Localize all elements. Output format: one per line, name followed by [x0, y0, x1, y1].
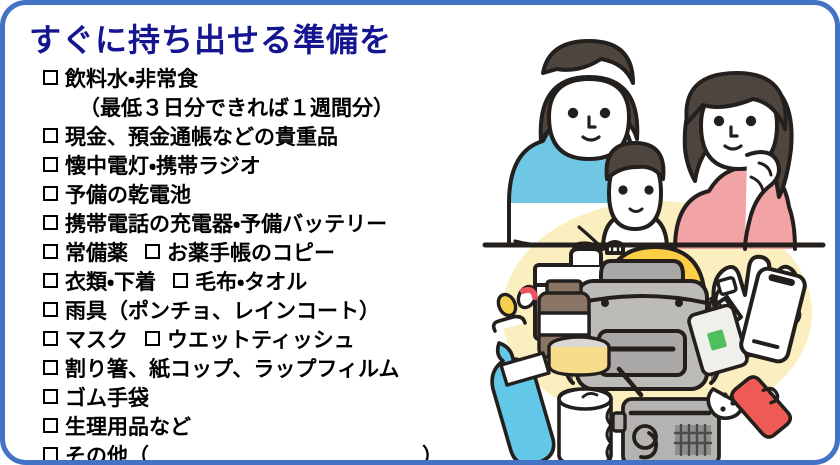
checklist-label-mask-second: ウエットティッシュ [167, 324, 355, 354]
checklist: 飲料水・非常食（最低３日分できれば１週間分）現金、預金通帳などの貴重品懐中電灯・… [43, 63, 463, 465]
checkbox-clothes-second[interactable] [173, 273, 188, 288]
person-child [603, 143, 667, 253]
person-mother [675, 73, 795, 249]
checklist-label-rubber-gloves: ゴム手袋 [65, 382, 149, 412]
checkbox-mask[interactable] [43, 331, 58, 346]
page-title: すぐに持ち出せる準備を [29, 15, 392, 61]
checkbox-cash-valuables[interactable] [43, 128, 58, 143]
checklist-row-rainwear[interactable]: 雨具（ポンチョ、レインコート） [43, 295, 463, 324]
canned-food [549, 337, 609, 375]
checkbox-rubber-gloves[interactable] [43, 389, 58, 404]
checklist-row-mask[interactable]: マスクウエットティッシュ [43, 324, 463, 353]
checklist-label-clothes-second: 毛布・タオル [195, 266, 307, 296]
checkbox-utensils[interactable] [43, 360, 58, 375]
checklist-label-other: その他（ [65, 440, 149, 465]
checklist-label-other-tail: ） [422, 440, 443, 465]
checklist-label-spare-batteries: 予備の乾電池 [65, 179, 191, 209]
checklist-label-medicine-second: お薬手帳のコピー [167, 237, 335, 267]
checkbox-clothes[interactable] [43, 273, 58, 288]
checkbox-medicine-second[interactable] [145, 244, 160, 259]
checklist-row-spare-batteries[interactable]: 予備の乾電池 [43, 179, 463, 208]
checklist-label-cash-valuables: 現金、預金通帳などの貴重品 [65, 121, 338, 151]
checklist-row-water-food[interactable]: 飲料水・非常食 [43, 63, 463, 92]
checkbox-rainwear[interactable] [43, 302, 58, 317]
checklist-label-mask: マスク [65, 324, 128, 354]
checklist-card: すぐに持ち出せる準備を 飲料水・非常食（最低３日分できれば１週間分）現金、預金通… [0, 0, 840, 465]
checkbox-flashlight-radio[interactable] [43, 157, 58, 172]
emergency-kit-illustration [479, 13, 829, 463]
checkbox-mask-second[interactable] [145, 331, 160, 346]
checklist-label-water-food-note: （最低３日分できれば１週間分） [79, 92, 394, 122]
checkbox-spare-batteries[interactable] [43, 186, 58, 201]
checklist-label-water-food: 飲料水・非常食 [65, 63, 198, 93]
checklist-label-flashlight-radio: 懐中電灯・携帯ラジオ [65, 150, 261, 180]
checkbox-medicine[interactable] [43, 244, 58, 259]
checklist-label-medicine: 常備薬 [65, 237, 128, 267]
checklist-label-utensils: 割り箸、紙コップ、ラップフィルム [65, 353, 400, 383]
checkbox-phone-charger[interactable] [43, 215, 58, 230]
checklist-row-water-food-note[interactable]: （最低３日分できれば１週間分） [43, 92, 463, 121]
checkbox-water-food[interactable] [43, 70, 58, 85]
checklist-label-clothes: 衣類・下着 [65, 266, 156, 296]
checklist-row-clothes[interactable]: 衣類・下着毛布・タオル [43, 266, 463, 295]
checkbox-sanitary[interactable] [43, 418, 58, 433]
checklist-label-sanitary: 生理用品など [65, 411, 191, 441]
checklist-label-rainwear: 雨具（ポンチョ、レインコート） [65, 295, 380, 325]
checklist-row-other[interactable]: その他（） [43, 440, 443, 465]
checklist-row-sanitary[interactable]: 生理用品など [43, 411, 463, 440]
checklist-label-phone-charger: 携帯電話の充電器・予備バッテリー [65, 208, 387, 238]
checklist-row-cash-valuables[interactable]: 現金、預金通帳などの貴重品 [43, 121, 463, 150]
checklist-row-utensils[interactable]: 割り箸、紙コップ、ラップフィルム [43, 353, 463, 382]
checklist-row-phone-charger[interactable]: 携帯電話の充電器・予備バッテリー [43, 208, 463, 237]
toilet-paper [559, 389, 611, 463]
checklist-row-flashlight-radio[interactable]: 懐中電灯・携帯ラジオ [43, 150, 463, 179]
checklist-row-medicine[interactable]: 常備薬お薬手帳のコピー [43, 237, 463, 266]
checkbox-other[interactable] [43, 447, 58, 462]
checklist-row-rubber-gloves[interactable]: ゴム手袋 [43, 382, 463, 411]
